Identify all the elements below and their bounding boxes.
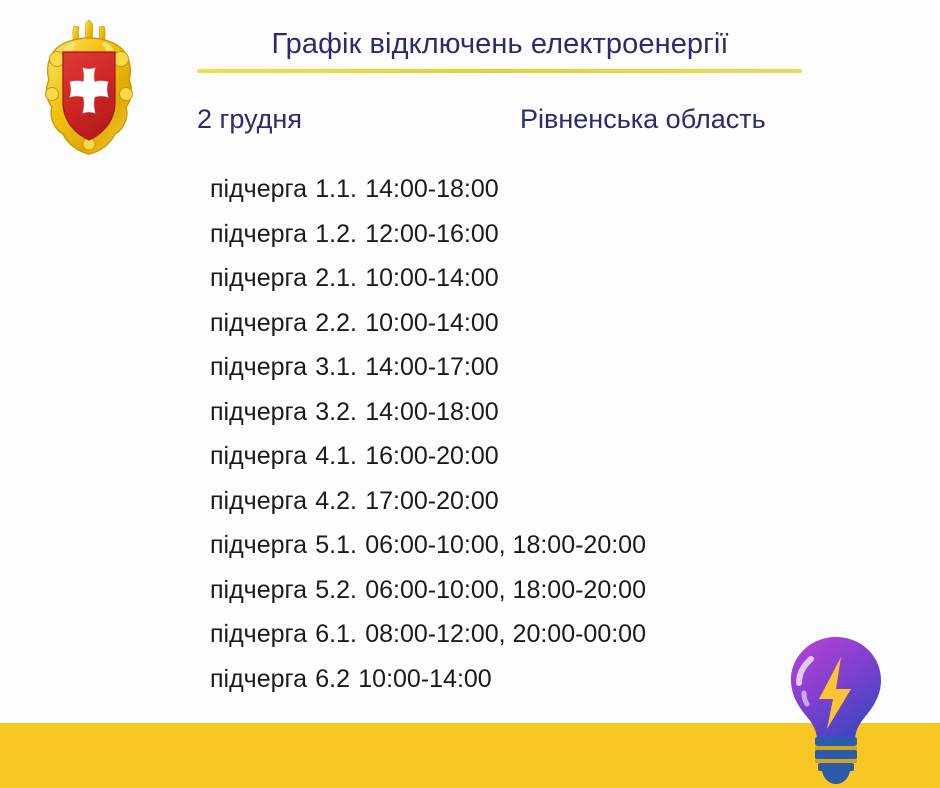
queue-label: підчерга xyxy=(210,397,307,427)
lightbulb-icon xyxy=(778,633,894,785)
queue-times: 14:00-18:00 xyxy=(365,174,498,204)
queue-id: 5.1. xyxy=(315,530,357,560)
queue-times: 12:00-16:00 xyxy=(365,219,498,249)
queue-times: 14:00-18:00 xyxy=(365,397,498,427)
queue-label: підчерга xyxy=(210,486,307,516)
queue-id: 3.1. xyxy=(315,352,357,382)
queue-id: 6.1. xyxy=(315,619,357,649)
queue-times: 16:00-20:00 xyxy=(365,441,498,471)
queue-id: 4.1. xyxy=(315,441,357,471)
queue-id: 5.2. xyxy=(315,575,357,605)
queue-times: 17:00-20:00 xyxy=(365,486,498,516)
queue-times: 06:00-10:00, 18:00-20:00 xyxy=(365,530,646,560)
queue-label: підчерга xyxy=(210,263,307,293)
queue-label: підчерга xyxy=(210,575,307,605)
queue-label: підчерга xyxy=(210,441,307,471)
date-label: 2 грудня xyxy=(197,101,302,137)
queue-id: 1.1. xyxy=(315,174,357,204)
queue-label: підчерга xyxy=(210,219,307,249)
queue-times: 10:00-14:00 xyxy=(358,664,491,694)
poster-header: Графік відключень електроенергії 2 грудн… xyxy=(0,0,940,150)
queue-id: 4.2. xyxy=(315,486,357,516)
queue-label: підчерга xyxy=(210,619,307,649)
queue-times: 10:00-14:00 xyxy=(365,308,498,338)
outage-schedule-list: підчерга1.1.14:00-18:00підчерга1.2.12:00… xyxy=(210,167,910,701)
queue-label: підчерга xyxy=(210,530,307,560)
queue-label: підчерга xyxy=(210,174,307,204)
queue-id: 3.2. xyxy=(315,397,357,427)
schedule-row: підчерга4.2.17:00-20:00 xyxy=(210,479,910,524)
queue-label: підчерга xyxy=(210,308,307,338)
schedule-row: підчерга3.2.14:00-18:00 xyxy=(210,390,910,435)
schedule-row: підчерга2.1.10:00-14:00 xyxy=(210,256,910,301)
schedule-row: підчерга1.1.14:00-18:00 xyxy=(210,167,910,212)
outage-schedule-poster: Графік відключень електроенергії 2 грудн… xyxy=(0,0,940,788)
subheader: 2 грудня Рівненська область xyxy=(197,101,827,141)
schedule-row: підчерга5.2.06:00-10:00, 18:00-20:00 xyxy=(210,568,910,613)
queue-times: 14:00-17:00 xyxy=(365,352,498,382)
queue-id: 1.2. xyxy=(315,219,357,249)
region-label: Рівненська область xyxy=(520,101,766,137)
queue-label: підчерга xyxy=(210,352,307,382)
schedule-row: підчерга2.2.10:00-14:00 xyxy=(210,301,910,346)
schedule-row: підчерга1.2.12:00-16:00 xyxy=(210,212,910,257)
queue-id: 6.2 xyxy=(315,664,350,694)
schedule-row: підчерга5.1.06:00-10:00, 18:00-20:00 xyxy=(210,523,910,568)
schedule-row: підчерга4.1.16:00-20:00 xyxy=(210,434,910,479)
page-title: Графік відключень електроенергії xyxy=(197,26,803,62)
queue-label: підчерга xyxy=(210,664,307,694)
queue-id: 2.1. xyxy=(315,263,357,293)
schedule-row: підчерга3.1.14:00-17:00 xyxy=(210,345,910,390)
queue-id: 2.2. xyxy=(315,308,357,338)
title-underline-rule xyxy=(197,69,802,73)
queue-times: 10:00-14:00 xyxy=(365,263,498,293)
queue-times: 06:00-10:00, 18:00-20:00 xyxy=(365,575,646,605)
queue-times: 08:00-12:00, 20:00-00:00 xyxy=(365,619,646,649)
